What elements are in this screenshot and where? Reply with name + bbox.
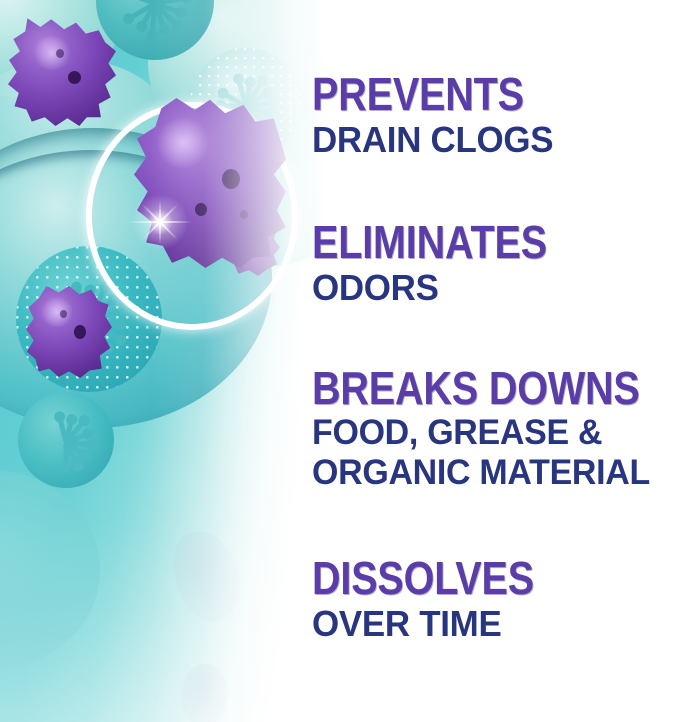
- microbe-illustration: [0, 0, 340, 722]
- benefit-subline-line-1: FOOD, GREASE &: [312, 414, 679, 451]
- benefit-headline: PREVENTS: [312, 72, 526, 117]
- benefit-headline: ELIMINATES: [312, 220, 547, 265]
- benefit-headline: DISSOLVES: [312, 556, 534, 601]
- enzyme-body: [26, 284, 112, 378]
- benefit-prevents: PREVENTS DRAIN CLOGS: [312, 72, 561, 159]
- virus-bottom-edge: [18, 392, 114, 488]
- enzyme-highlight: [32, 36, 72, 70]
- benefit-subline-line-2: ORGANIC MATERIAL: [312, 454, 679, 491]
- benefit-dissolves: DISSOLVES OVER TIME: [312, 556, 570, 643]
- benefit-breaks-downs: BREAKS DOWNS FOOD, GREASE & ORGANIC MATE…: [312, 366, 679, 491]
- enzyme-body: [134, 98, 286, 268]
- benefit-headline: BREAKS DOWNS: [312, 366, 640, 411]
- benefit-subline: ODORS: [312, 269, 577, 307]
- benefit-eliminates: ELIMINATES ODORS: [312, 220, 585, 307]
- benefit-subline: DRAIN CLOGS: [312, 121, 553, 159]
- benefit-subline: OVER TIME: [312, 605, 562, 643]
- enzyme-body: [8, 16, 116, 126]
- benefits-list: PREVENTS DRAIN CLOGS ELIMINATES ODORS BR…: [312, 0, 679, 722]
- enzyme-top-left: [8, 16, 116, 126]
- enzyme-highlight: [40, 297, 74, 327]
- product-benefits-poster: PREVENTS DRAIN CLOGS ELIMINATES ODORS BR…: [0, 0, 679, 722]
- enzyme-pore: [56, 49, 64, 58]
- enzyme-center-large: [134, 98, 286, 268]
- enzyme-lower-left: [26, 284, 112, 378]
